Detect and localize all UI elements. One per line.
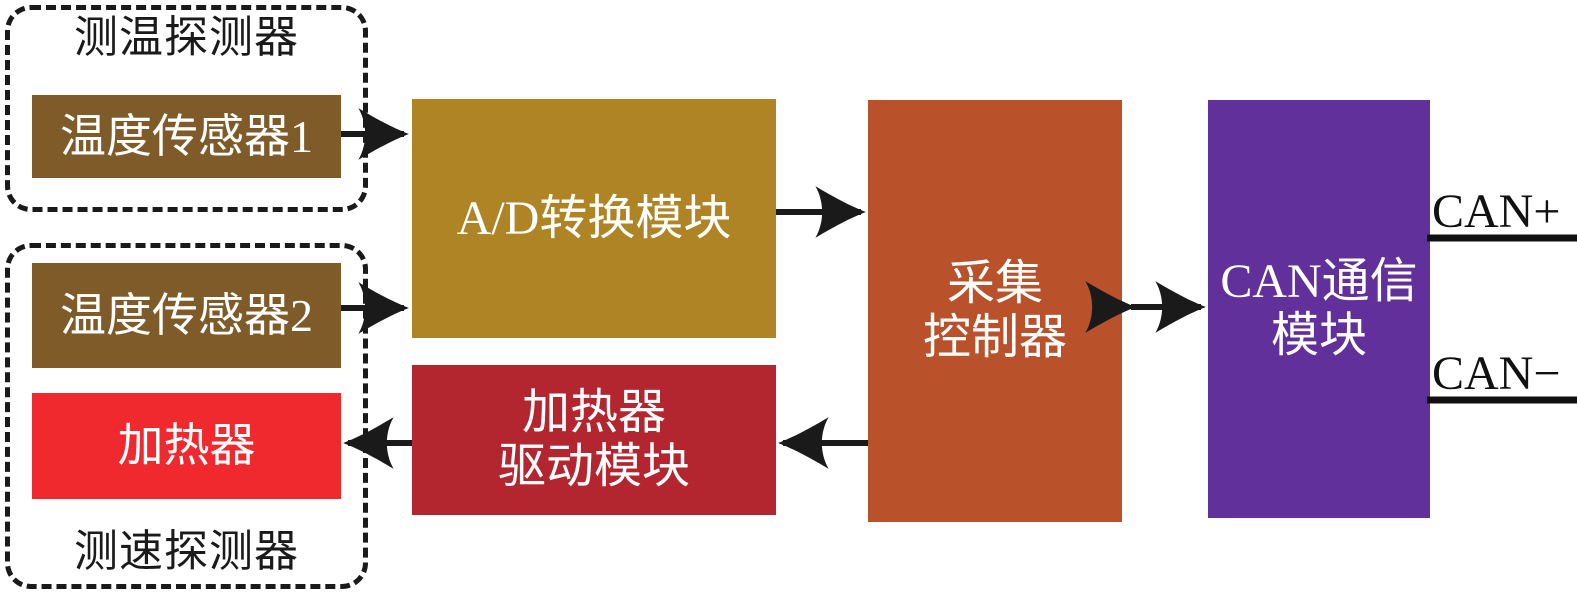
node-can-communication-module[interactable]: CAN通信 模块 xyxy=(1208,100,1430,518)
node-heater-driver-module-label: 加热器 驱动模块 xyxy=(498,386,690,494)
node-temperature-sensor-2-label: 温度传感器2 xyxy=(60,290,313,342)
node-temperature-sensor-1-label: 温度传感器1 xyxy=(60,111,313,163)
node-ad-conversion-module[interactable]: A/D转换模块 xyxy=(412,99,776,338)
terminal-can-minus-label: CAN− xyxy=(1432,350,1560,398)
group-speed-detector-label: 测速探测器 xyxy=(5,530,368,574)
node-acquisition-controller-label: 采集 控制器 xyxy=(923,257,1067,365)
node-heater-driver-module[interactable]: 加热器 驱动模块 xyxy=(412,365,776,515)
node-can-communication-module-label: CAN通信 模块 xyxy=(1220,255,1417,363)
block-diagram: 测温探测器 温度传感器1 测速探测器 温度传感器2 加热器 A/D转换模块 加热… xyxy=(0,0,1577,594)
node-heater[interactable]: 加热器 xyxy=(32,393,341,499)
node-heater-label: 加热器 xyxy=(118,420,256,472)
node-temperature-sensor-2[interactable]: 温度传感器2 xyxy=(32,263,341,368)
node-acquisition-controller[interactable]: 采集 控制器 xyxy=(868,100,1122,522)
terminal-can-plus-label: CAN+ xyxy=(1432,188,1560,236)
node-ad-conversion-module-label: A/D转换模块 xyxy=(457,192,732,246)
node-temperature-sensor-1[interactable]: 温度传感器1 xyxy=(32,95,341,178)
group-temp-detector-label: 测温探测器 xyxy=(5,16,368,60)
